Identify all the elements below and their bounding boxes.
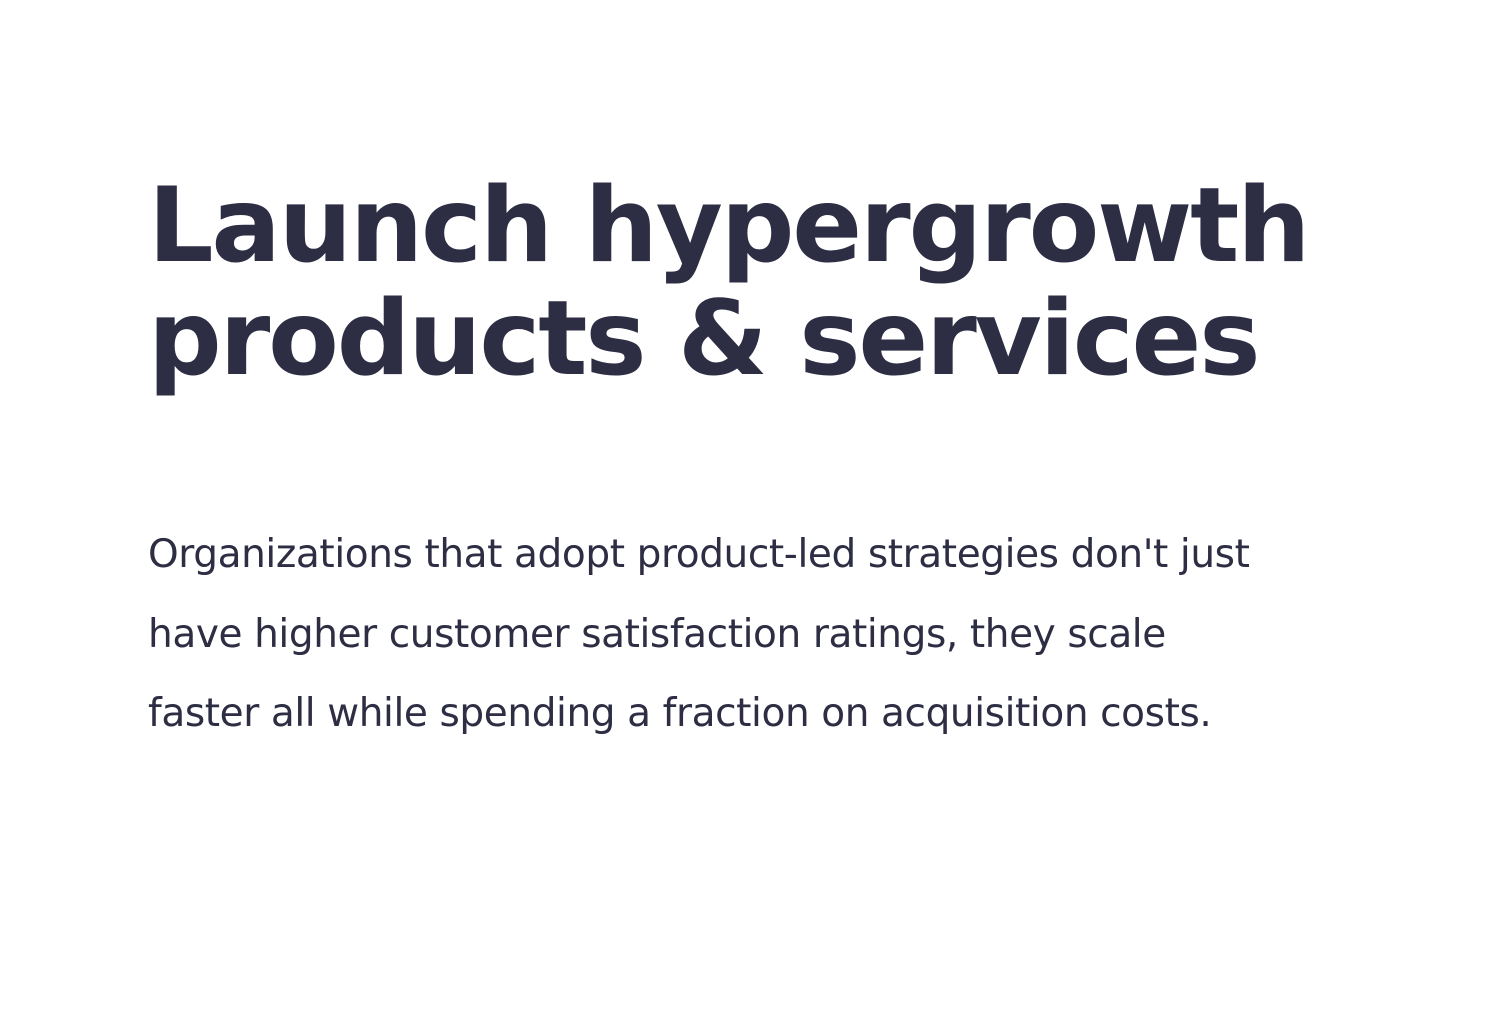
page-root: Launch hypergrowth products & services O…: [0, 0, 1500, 1030]
hero-section: Launch hypergrowth products & services O…: [148, 170, 1368, 754]
hero-description-line-1: Organizations that adopt product-led str…: [148, 515, 1363, 595]
hero-description: Organizations that adopt product-led str…: [148, 397, 1363, 755]
page-title-line-2: products & services: [148, 283, 1368, 396]
page-title-line-1: Launch hypergrowth: [148, 170, 1368, 283]
hero-description-line-2: have higher customer satisfaction rating…: [148, 595, 1363, 675]
hero-description-line-3: faster all while spending a fraction on …: [148, 674, 1363, 754]
page-title: Launch hypergrowth products & services: [148, 170, 1368, 397]
